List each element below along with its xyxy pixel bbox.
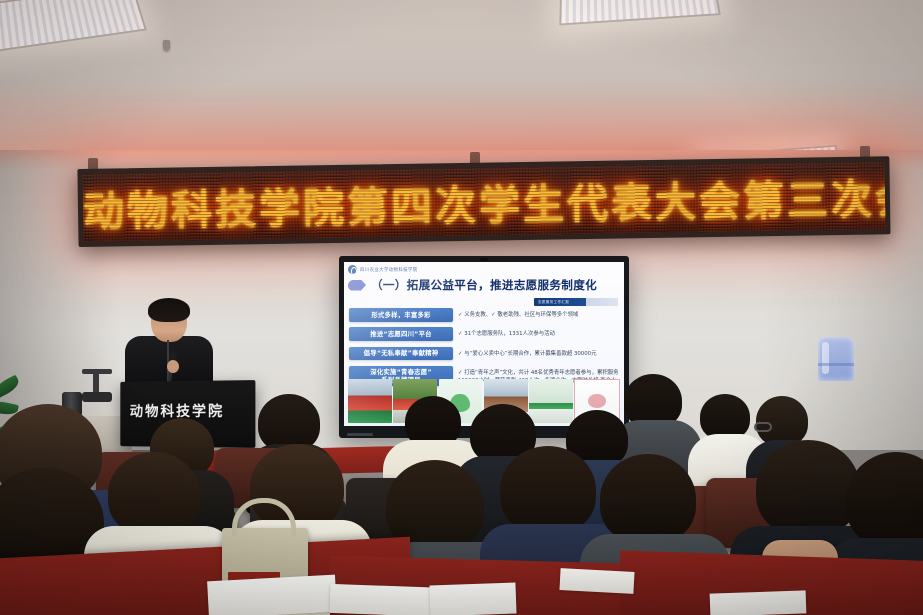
document-paper [559, 568, 634, 594]
slide-title: （一）拓展公益平台，推进志愿服务制度化 [371, 277, 597, 293]
ceiling-light-panel [559, 0, 720, 25]
slide-badge: 志愿服务工作汇报 [534, 298, 618, 306]
document-paper [710, 590, 807, 615]
slide-header: 四川农业大学动物科技学院 [348, 265, 418, 274]
slide-row: 形式多样，丰富多彩 ✓ 义务支教、✓ 敬老助残、社区与环保等多个领域 [349, 308, 619, 322]
speaker-hair [148, 298, 190, 322]
head [756, 396, 808, 446]
slide-badge-label: 志愿服务工作汇报 [534, 298, 618, 305]
slide-org-line: 四川农业大学动物科技学院 [360, 267, 418, 273]
slide-row-desc: ✓ 义务支教、✓ 敬老助残、社区与环保等多个领域 [453, 308, 619, 319]
head [756, 440, 860, 536]
conference-room-photo: 动物科技学院第四次学生代表大会第三次会议 四川农业大学动物科技学院 （一）拓展公… [0, 0, 923, 615]
slide-row-chip: 推进“志愿四川”平台 [349, 327, 453, 341]
slide-row: 推进“志愿四川”平台 ✓ 31个志愿服务队，1331人次参与活动 [349, 327, 619, 341]
eyeglasses-icon [754, 422, 772, 432]
display-camera-icon [480, 258, 488, 261]
slide-row-desc: ✓ 31个志愿服务队，1331人次参与活动 [453, 327, 619, 338]
speaker-hand [167, 360, 179, 373]
display-logo [347, 433, 373, 436]
document-paper [429, 583, 516, 615]
slide-row-chip: 形式多样，丰富多彩 [349, 308, 453, 322]
chevron-right-icon [348, 280, 366, 291]
slide-title-row: （一）拓展公益平台，推进志愿服务制度化 [348, 277, 618, 293]
slide-row: 倡导“无私奉献”奉献精神 ✓ 与“爱心义卖中心”长期合作，累计募集善款超 300… [349, 347, 619, 361]
slide-photo [529, 379, 573, 423]
led-scrolling-banner: 动物科技学院第四次学生代表大会第三次会议 [77, 156, 890, 247]
slide-photo [348, 379, 392, 423]
head [500, 446, 596, 534]
head [108, 452, 200, 536]
ceiling-light-panel [0, 0, 147, 56]
water-cooler-bottle [818, 337, 854, 381]
university-logo-icon [348, 265, 357, 274]
microphone-stand [93, 372, 99, 394]
led-banner-text: 动物科技学院第四次学生代表大会第三次会议 [83, 165, 886, 238]
microphone-base [82, 392, 112, 402]
slide-row-desc: ✓ 与“爱心义卖中心”长期合作，累计募集善款超 30000元 [453, 347, 619, 358]
sprinkler-head [163, 40, 170, 51]
slide-row-chip: 倡导“无私奉献”奉献精神 [349, 347, 453, 361]
head [600, 454, 696, 544]
slide-row-chip-line1: 深化实施“青春志愿” [351, 368, 451, 377]
head [846, 452, 923, 548]
document-paper [207, 575, 337, 615]
presentation-slide: 四川农业大学动物科技学院 （一）拓展公益平台，推进志愿服务制度化 志愿服务工作汇… [344, 262, 624, 426]
